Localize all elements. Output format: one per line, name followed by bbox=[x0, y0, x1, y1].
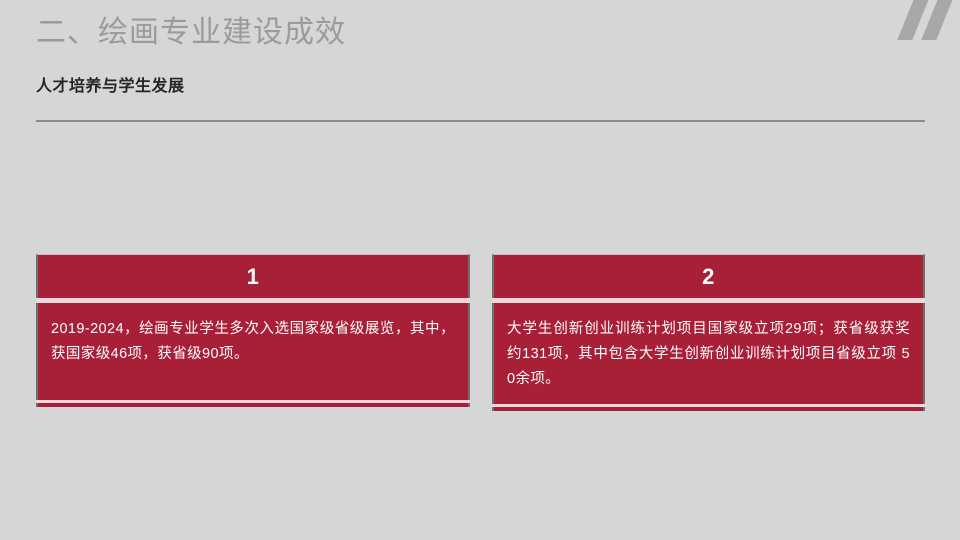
card-2-header: 2 bbox=[492, 254, 925, 298]
card-1-body-text: 2019-2024，绘画专业学生多次入选国家级省级展览，其中，获国家级46项，获… bbox=[51, 317, 455, 367]
card-1-body: 2019-2024，绘画专业学生多次入选国家级省级展览，其中，获国家级46项，获… bbox=[36, 303, 470, 400]
card-list: 1 2019-2024，绘画专业学生多次入选国家级省级展览，其中，获国家级46项… bbox=[36, 254, 925, 411]
card-1-header: 1 bbox=[36, 254, 470, 298]
slide-canvas: 二、绘画专业建设成效 人才培养与学生发展 1 2019-2024，绘画专业学生多… bbox=[0, 0, 960, 540]
card-1-number: 1 bbox=[247, 266, 260, 288]
page-title: 二、绘画专业建设成效 bbox=[36, 14, 346, 52]
card-1-footer-bar bbox=[36, 403, 470, 407]
slash-shape-right bbox=[921, 0, 955, 40]
double-slash-icon bbox=[870, 0, 960, 52]
card-2-number: 2 bbox=[702, 266, 715, 288]
page-subtitle: 人才培养与学生发展 bbox=[36, 76, 185, 98]
card-2-body: 大学生创新创业训练计划项目国家级立项29项；获省级获奖约131项，其中包含大学生… bbox=[492, 303, 925, 404]
card-2-footer-bar bbox=[492, 407, 925, 411]
info-card-2: 2 大学生创新创业训练计划项目国家级立项29项；获省级获奖约131项，其中包含大… bbox=[492, 254, 925, 411]
info-card-1: 1 2019-2024，绘画专业学生多次入选国家级省级展览，其中，获国家级46项… bbox=[36, 254, 470, 411]
card-2-body-text: 大学生创新创业训练计划项目国家级立项29项；获省级获奖约131项，其中包含大学生… bbox=[507, 317, 910, 392]
header-divider bbox=[36, 120, 925, 122]
